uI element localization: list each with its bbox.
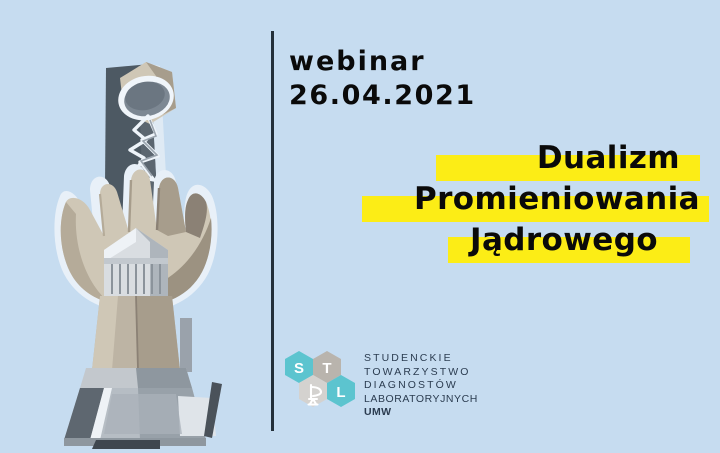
organization-logo: S T <box>283 349 478 421</box>
stdl-hexagon-logo-icon: S T <box>283 349 355 421</box>
org-line-3: DIAGNOSTÓW <box>364 379 478 393</box>
title-line-2-text: Promieniowania <box>414 181 700 217</box>
title-line-1: Dualizm <box>340 138 700 179</box>
org-line-4: LABORATORYJNYCH <box>364 393 478 407</box>
page-title: Dualizm Promieniowania Jądrowego <box>340 138 700 261</box>
org-line-2: TOWARZYSTWO <box>364 366 478 380</box>
org-line-5: UMW <box>364 406 478 420</box>
organization-name: STUDENCKIE TOWARZYSTWO DIAGNOSTÓW LABORA… <box>364 349 478 420</box>
title-line-1-text: Dualizm <box>537 140 680 176</box>
webinar-header: webinar 26.04.2021 <box>289 47 476 112</box>
svg-text:S: S <box>294 360 304 377</box>
org-line-1: STUDENCKIE <box>364 352 478 366</box>
title-line-2: Promieniowania <box>340 179 700 220</box>
title-line-3-text: Jądrowego <box>470 222 658 258</box>
title-line-3: Jądrowego <box>340 220 700 261</box>
svg-text:T: T <box>322 360 331 377</box>
poster-canvas: webinar 26.04.2021 Dualizm Promieniowani… <box>0 0 720 453</box>
webinar-label: webinar <box>289 47 476 77</box>
monument-illustration <box>0 0 272 453</box>
vertical-divider <box>271 31 274 431</box>
webinar-date: 26.04.2021 <box>289 80 476 112</box>
svg-text:L: L <box>336 384 345 401</box>
